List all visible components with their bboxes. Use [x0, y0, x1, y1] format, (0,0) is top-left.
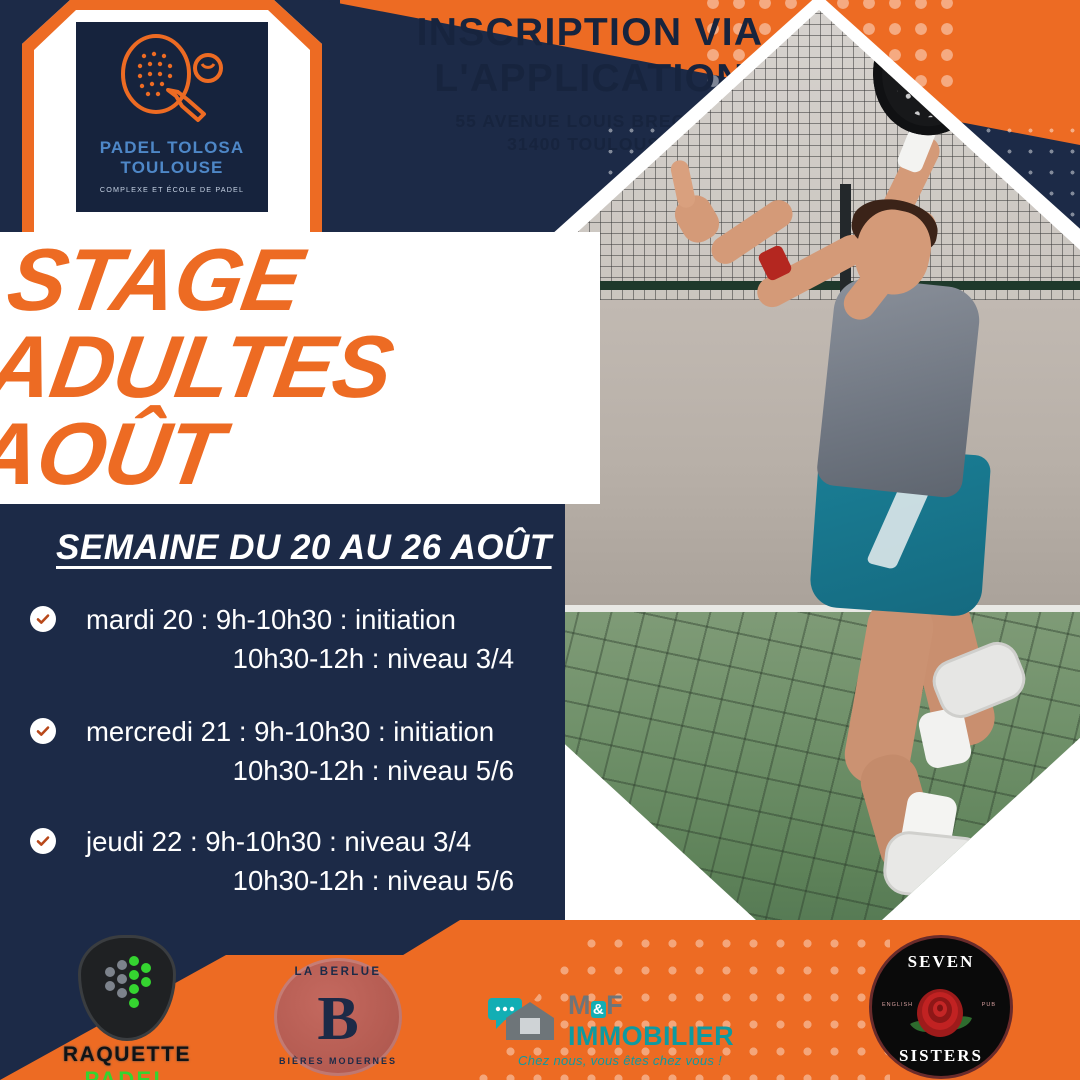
sponsor-name-line-2: PADEL	[42, 1067, 212, 1080]
title-line-2: ADULTES AOÛT	[0, 323, 574, 497]
schedule-row-line-1: mardi 20 : 9h-10h30 : initiation	[86, 600, 550, 639]
check-circle-icon	[30, 606, 56, 632]
sponsor-logo-raquette-padel[interactable]: RAQUETTE PADEL SITE 100% PADEL	[42, 938, 212, 1080]
schedule-row-line-1: mercredi 21 : 9h-10h30 : initiation	[86, 712, 550, 751]
sponsor-logo-la-berlue[interactable]: LA BERLUE B BIÈRES MODERNES	[274, 958, 402, 1076]
schedule-row-line-2: 10h30-12h : niveau 5/6	[86, 751, 550, 790]
sponsor-name: M&F IMMOBILIER	[568, 990, 766, 1052]
sponsor-monogram: B	[274, 988, 402, 1050]
rose-icon	[906, 982, 976, 1044]
sponsor-top-text: LA BERLUE	[274, 966, 402, 978]
brand-logo: PADEL TOLOSA TOULOUSE COMPLEXE ET ÉCOLE …	[76, 22, 268, 212]
mf-name-main: IMMOBILIER	[568, 1021, 734, 1051]
raquette-padel-racket-icon	[81, 938, 173, 1038]
sponsor-left-text: ENGLISH	[882, 1002, 913, 1008]
schedule-row-line-2: 10h30-12h : niveau 5/6	[86, 861, 550, 900]
padel-racket-and-ball-icon	[110, 34, 234, 135]
sponsor-bottom-text: BIÈRES MODERNES	[274, 1056, 402, 1066]
poster-canvas: INSCRIPTION VIA L'APPLICATION 55 AVENUE …	[0, 0, 1080, 1080]
sponsor-top-text: SEVEN	[872, 952, 1010, 972]
sponsor-name-line-1: RAQUETTE	[42, 1043, 212, 1067]
mf-house-chat-icon	[486, 996, 560, 1047]
schedule-row-line-1: jeudi 22 : 9h-10h30 : niveau 3/4	[86, 822, 550, 861]
logo-name-line-2: TOULOUSE	[121, 158, 224, 178]
sponsor-logo-seven-sisters[interactable]: SEVEN ENGLISH PUB SISTERS	[872, 938, 1010, 1076]
mf-name-prefix: M	[568, 990, 591, 1020]
schedule-row: jeudi 22 : 9h-10h30 : niveau 3/4 10h30-1…	[30, 822, 550, 900]
sponsor-bottom-text: SISTERS	[872, 1046, 1010, 1066]
logo-tagline: COMPLEXE ET ÉCOLE DE PADEL	[100, 185, 244, 194]
logo-name-line-1: PADEL TOLOSA	[100, 138, 245, 158]
mf-name-amp: &	[591, 1001, 606, 1018]
sponsor-tagline: Chez nous, vous êtes chez vous !	[486, 1053, 754, 1068]
sponsor-right-text: PUB	[982, 1002, 996, 1008]
week-heading: SEMAINE DU 20 AU 26 AOÛT	[56, 528, 552, 568]
page-title: STAGE ADULTES AOÛT	[0, 236, 588, 497]
schedule-row-line-2: 10h30-12h : niveau 3/4	[86, 639, 550, 678]
schedule-row: mercredi 21 : 9h-10h30 : initiation 10h3…	[30, 712, 550, 790]
check-circle-icon	[30, 828, 56, 854]
sponsor-logo-mf-immobilier[interactable]: M&F IMMOBILIER Chez nous, vous êtes chez…	[486, 990, 766, 1068]
schedule-row: mardi 20 : 9h-10h30 : initiation 10h30-1…	[30, 600, 550, 678]
title-line-1: STAGE	[0, 236, 588, 323]
mf-name-rest: F	[606, 990, 623, 1020]
check-circle-icon	[30, 718, 56, 744]
